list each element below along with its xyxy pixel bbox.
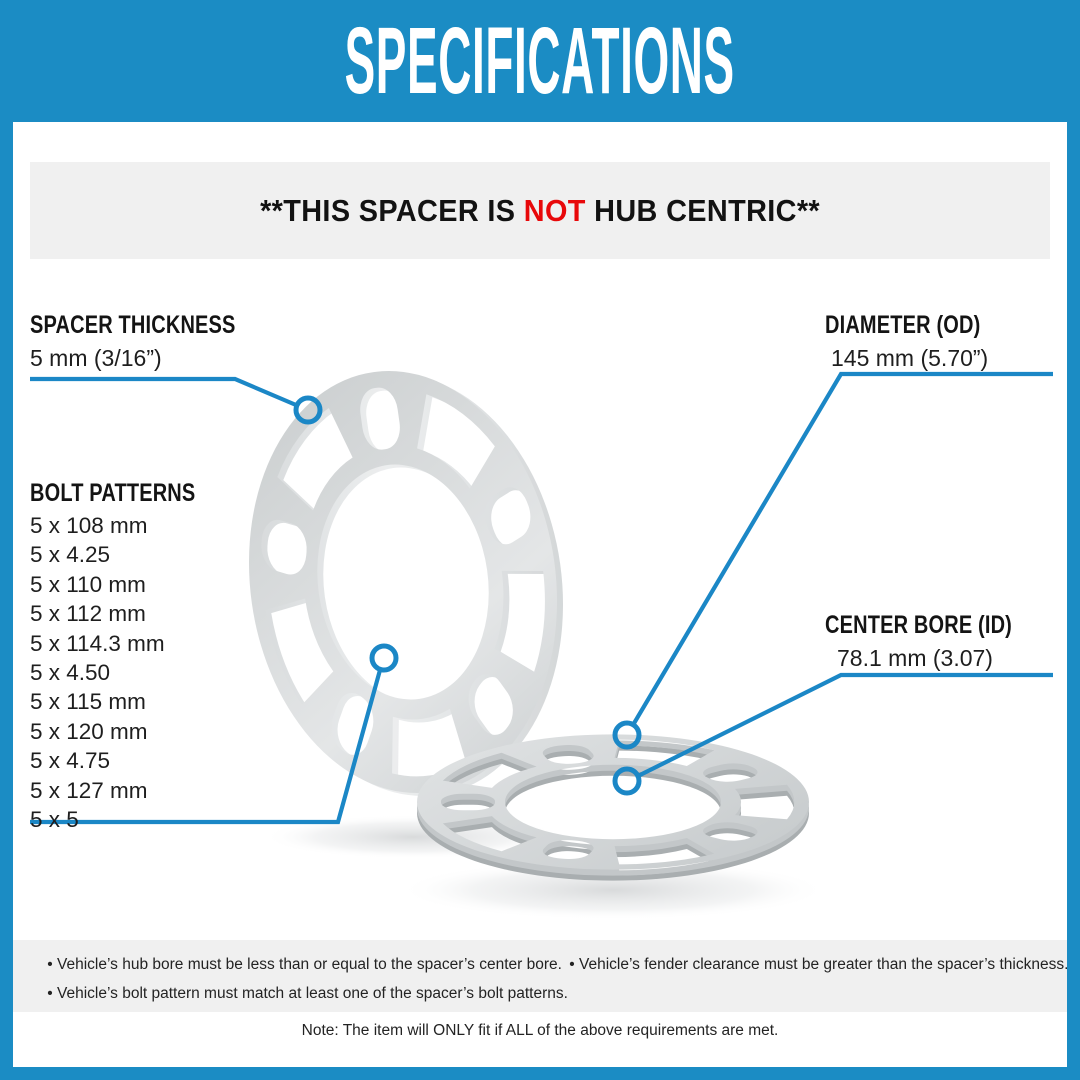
marker-thickness [296, 398, 320, 422]
bolt-pattern-item: 5 x 4.25 [30, 540, 237, 569]
bullet-icon: • [43, 979, 57, 1008]
marker-center-bore [615, 769, 639, 793]
center-bore-title: CENTER BORE (ID) [825, 612, 1012, 639]
callout-bolt-patterns: BOLT PATTERNS 5 x 108 mm 5 x 4.25 5 x 11… [30, 480, 237, 834]
notice-suffix: HUB CENTRIC** [586, 193, 820, 228]
bolt-pattern-item: 5 x 112 mm [30, 599, 237, 628]
notice-prefix: **THIS SPACER IS [260, 193, 524, 228]
bullet-icon: • [565, 950, 579, 979]
content-card: **THIS SPACER IS NOT HUB CENTRIC** [13, 122, 1067, 1067]
requirements-left: • Vehicle’s hub bore must be less than o… [43, 950, 568, 1008]
spacer-thickness-title: SPACER THICKNESS [30, 312, 236, 339]
requirement-item: • Vehicle’s fender clearance must be gre… [565, 950, 1067, 979]
leader-center-bore [636, 675, 1053, 777]
callout-center-bore: CENTER BORE (ID) 78.1 mm (3.07) [825, 612, 1059, 673]
spacer-thickness-value: 5 mm (3/16”) [30, 343, 287, 373]
bolt-patterns-title: BOLT PATTERNS [30, 480, 195, 507]
bolt-pattern-item: 5 x 5 [30, 805, 237, 834]
bolt-patterns-list: 5 x 108 mm 5 x 4.25 5 x 110 mm 5 x 112 m… [30, 511, 237, 834]
center-bore-value: 78.1 mm (3.07) [837, 643, 1059, 673]
bolt-pattern-item: 5 x 4.75 [30, 746, 237, 775]
bolt-pattern-item: 5 x 4.50 [30, 658, 237, 687]
bolt-pattern-item: 5 x 108 mm [30, 511, 237, 540]
requirement-text: Vehicle’s fender clearance must be great… [579, 950, 1067, 979]
bolt-pattern-item: 5 x 114.3 mm [30, 629, 237, 658]
bolt-pattern-item: 5 x 110 mm [30, 570, 237, 599]
callout-spacer-thickness: SPACER THICKNESS 5 mm (3/16”) [30, 312, 287, 373]
requirement-item: • Vehicle’s hub bore must be less than o… [43, 950, 568, 979]
requirement-text: Vehicle’s bolt pattern must match at lea… [57, 979, 568, 1008]
bullet-icon: • [43, 950, 57, 979]
bolt-pattern-item: 5 x 115 mm [30, 687, 237, 716]
bolt-pattern-item: 5 x 120 mm [30, 717, 237, 746]
bolt-pattern-item: 5 x 127 mm [30, 776, 237, 805]
header-bar: SPECIFICATIONS [0, 0, 1080, 122]
marker-diameter [615, 723, 639, 747]
requirements-right: • Vehicle’s fender clearance must be gre… [565, 950, 1067, 979]
requirement-item: • Vehicle’s bolt pattern must match at l… [43, 979, 568, 1008]
page-title: SPECIFICATIONS [345, 14, 735, 109]
footer-note: Note: The item will ONLY fit if ALL of t… [13, 1022, 1067, 1040]
diameter-value: 145 mm (5.70”) [831, 343, 1019, 373]
hub-centric-notice: **THIS SPACER IS NOT HUB CENTRIC** [30, 162, 1050, 259]
notice-highlight: NOT [524, 193, 586, 228]
callout-diameter: DIAMETER (OD) 145 mm (5.70”) [825, 312, 1019, 373]
specifications-poster: SPECIFICATIONS **THIS SPACER IS NOT HUB … [0, 0, 1080, 1080]
hub-centric-notice-text: **THIS SPACER IS NOT HUB CENTRIC** [260, 193, 820, 229]
leader-thickness [30, 379, 296, 405]
requirement-text: Vehicle’s hub bore must be less than or … [57, 950, 562, 979]
diameter-title: DIAMETER (OD) [825, 312, 980, 339]
marker-bolt-patterns [372, 646, 396, 670]
